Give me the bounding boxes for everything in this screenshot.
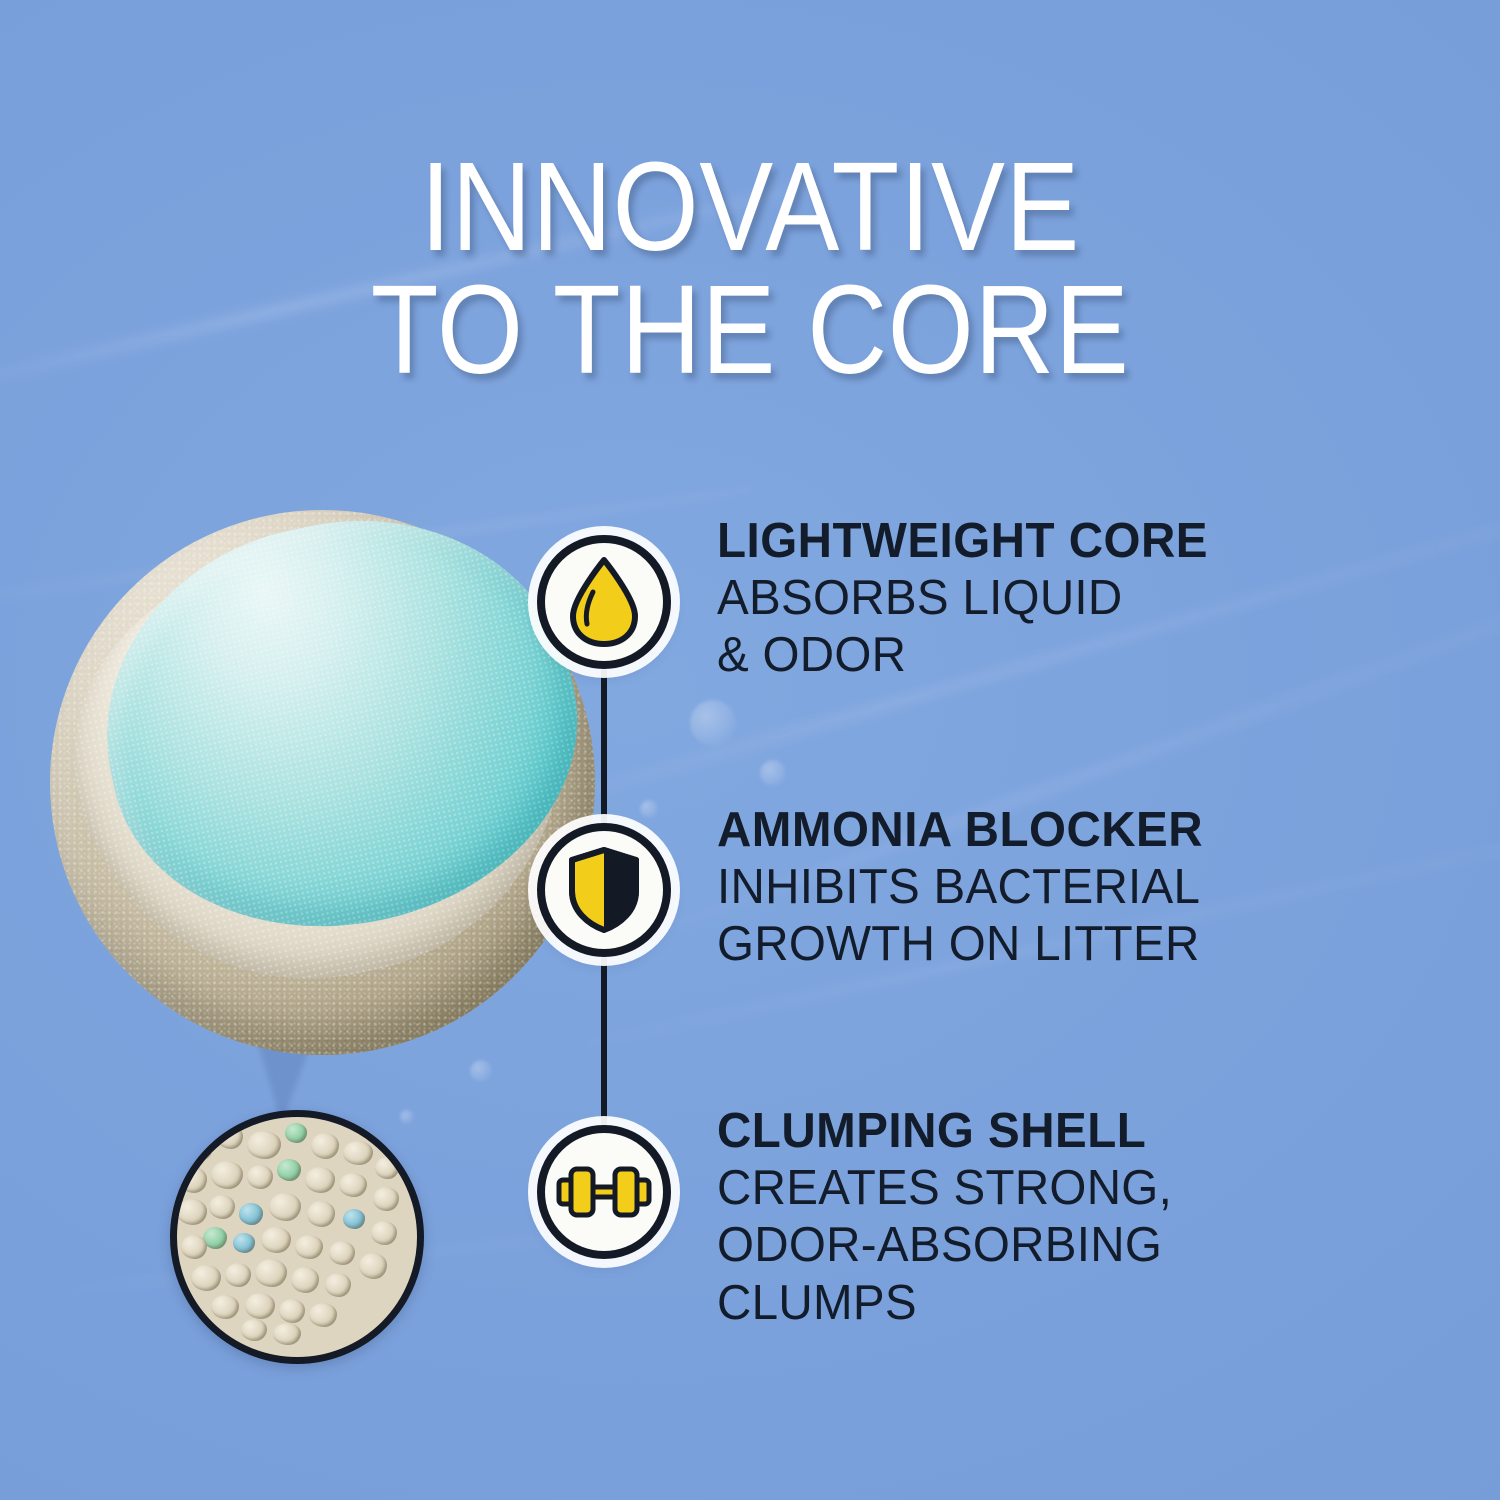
droplet-icon: [565, 556, 643, 648]
connector-line: [601, 956, 607, 1128]
feature-body: CREATES STRONG, ODOR-ABSORBING CLUMPS: [717, 1160, 1396, 1332]
feature-heading: LIGHTWEIGHT CORE: [717, 516, 1396, 568]
feature-heading: AMMONIA BLOCKER: [717, 805, 1396, 857]
feature-text-clumping-shell: CLUMPING SHELL CREATES STRONG, ODOR-ABSO…: [717, 1106, 1417, 1332]
feature-text-lightweight-core: LIGHTWEIGHT CORE ABSORBS LIQUID & ODOR: [717, 516, 1417, 685]
connector-line: [601, 668, 607, 826]
feature-icon-badge-clumping-shell: [537, 1125, 671, 1259]
feature-body: ABSORBS LIQUID & ODOR: [717, 570, 1396, 685]
feature-text-ammonia-blocker: AMMONIA BLOCKER INHIBITS BACTERIAL GROWT…: [717, 805, 1417, 974]
shield-icon: [564, 845, 644, 935]
feature-list: LIGHTWEIGHT CORE ABSORBS LIQUID & ODOR A…: [0, 0, 1500, 1500]
dumbbell-icon: [556, 1160, 652, 1224]
feature-body: INHIBITS BACTERIAL GROWTH ON LITTER: [717, 859, 1396, 974]
feature-icon-badge-lightweight-core: [537, 535, 671, 669]
infographic-canvas: INNOVATIVE TO THE CORE: [0, 0, 1500, 1500]
feature-heading: CLUMPING SHELL: [717, 1106, 1396, 1158]
feature-icon-badge-ammonia-blocker: [537, 823, 671, 957]
